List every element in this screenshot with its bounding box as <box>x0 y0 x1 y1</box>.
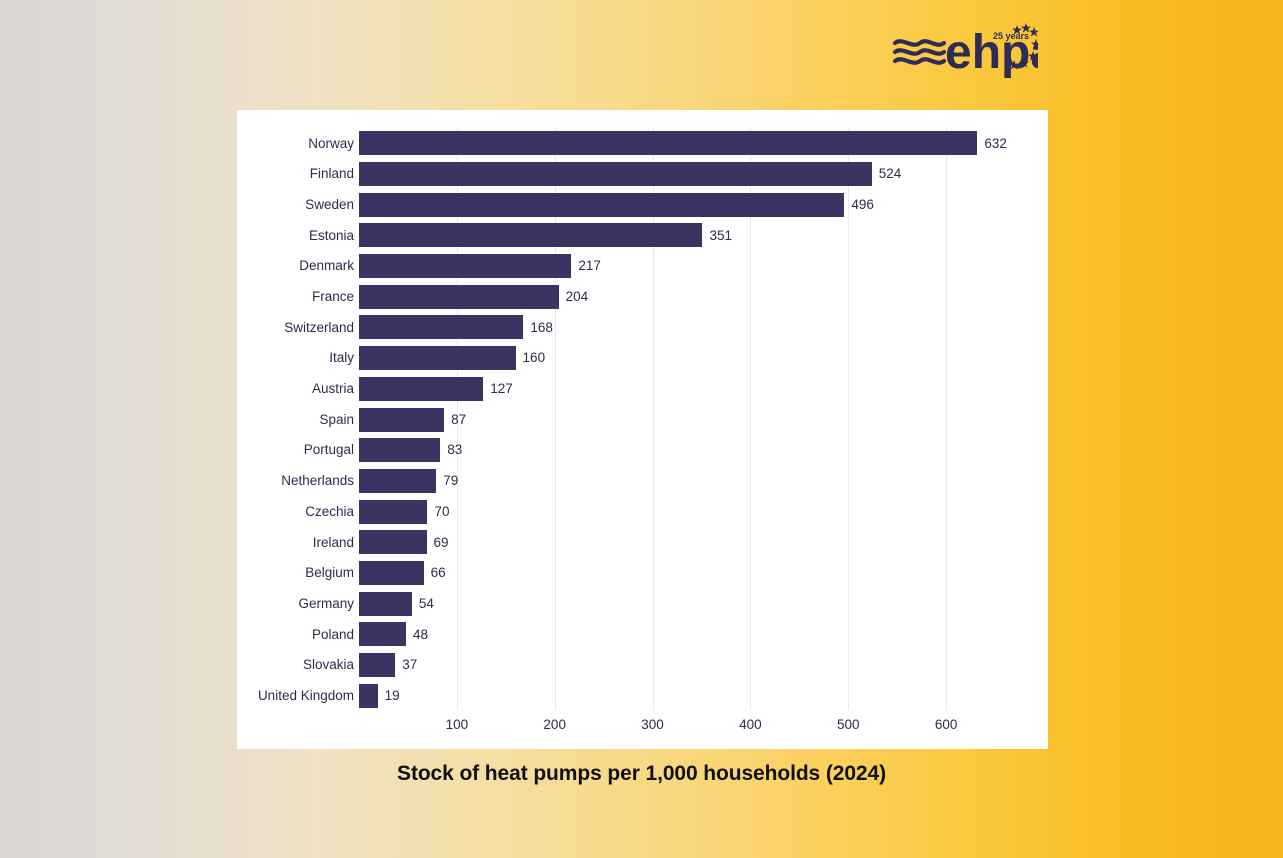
bar[interactable] <box>359 193 844 217</box>
bar-rows: Norway632Finland524Sweden496Estonia351De… <box>237 128 1048 711</box>
bar[interactable] <box>359 561 424 585</box>
category-label: United Kingdom <box>104 689 354 703</box>
bar-row: Denmark217 <box>237 251 1048 282</box>
bar-value-label: 66 <box>431 566 446 580</box>
bar[interactable] <box>359 346 516 370</box>
bar-row: Germany54 <box>237 588 1048 619</box>
category-label: Austria <box>104 382 354 396</box>
bar-value-label: 204 <box>566 290 589 304</box>
bar-row: United Kingdom19 <box>237 680 1048 711</box>
bar-row: Poland48 <box>237 619 1048 650</box>
category-label: Finland <box>104 167 354 181</box>
chart-panel: Norway632Finland524Sweden496Estonia351De… <box>237 110 1048 749</box>
bar-row: Belgium66 <box>237 558 1048 589</box>
category-label: Germany <box>104 597 354 611</box>
bar-container: 79 <box>359 466 458 497</box>
category-label: Portugal <box>104 443 354 457</box>
bar-container: 66 <box>359 558 446 589</box>
bar-container: 217 <box>359 251 601 282</box>
category-label: Spain <box>104 413 354 427</box>
category-label: Poland <box>104 628 354 642</box>
chart-caption: Stock of heat pumps per 1,000 households… <box>0 762 1283 786</box>
bar-value-label: 19 <box>385 689 400 703</box>
bar-value-label: 351 <box>709 229 732 243</box>
category-label: Sweden <box>104 198 354 212</box>
bar-container: 87 <box>359 404 466 435</box>
x-tick-label: 500 <box>837 718 860 732</box>
category-label: Norway <box>104 137 354 151</box>
bar[interactable] <box>359 285 559 309</box>
bar-value-label: 524 <box>879 167 902 181</box>
bar-row: Italy160 <box>237 343 1048 374</box>
category-label: Estonia <box>104 229 354 243</box>
bar[interactable] <box>359 254 571 278</box>
bar-value-label: 54 <box>419 597 434 611</box>
bar-value-label: 160 <box>523 351 546 365</box>
bar-container: 632 <box>359 128 1007 159</box>
bar-row: Portugal83 <box>237 435 1048 466</box>
category-label: Ireland <box>104 536 354 550</box>
anniversary-text: 25 years <box>993 31 1029 41</box>
bar[interactable] <box>359 223 702 247</box>
bar-value-label: 217 <box>578 259 601 273</box>
bar-container: 69 <box>359 527 449 558</box>
category-label: France <box>104 290 354 304</box>
ehpa-logo: ehpa 25 years <box>893 16 1038 78</box>
bar-container: 127 <box>359 374 513 405</box>
bar-row: Czechia70 <box>237 496 1048 527</box>
bar-container: 19 <box>359 680 400 711</box>
bar-row: Netherlands79 <box>237 466 1048 497</box>
bar-value-label: 127 <box>490 382 513 396</box>
x-tick-label: 200 <box>543 718 566 732</box>
category-label: Switzerland <box>104 321 354 335</box>
bar[interactable] <box>359 622 406 646</box>
bar-value-label: 168 <box>530 321 553 335</box>
bar-container: 54 <box>359 588 434 619</box>
bar-value-label: 70 <box>434 505 449 519</box>
bar-row: Sweden496 <box>237 189 1048 220</box>
bar-row: Switzerland168 <box>237 312 1048 343</box>
bar-row: Ireland69 <box>237 527 1048 558</box>
wave-icon <box>895 41 944 62</box>
bar[interactable] <box>359 377 483 401</box>
category-label: Italy <box>104 351 354 365</box>
bar-container: 351 <box>359 220 732 251</box>
bar-container: 524 <box>359 159 901 190</box>
category-label: Netherlands <box>104 474 354 488</box>
category-label: Slovakia <box>104 658 354 672</box>
category-label: Denmark <box>104 259 354 273</box>
bar-row: Estonia351 <box>237 220 1048 251</box>
category-label: Czechia <box>104 505 354 519</box>
bar[interactable] <box>359 315 523 339</box>
plot-area: Norway632Finland524Sweden496Estonia351De… <box>237 110 1048 749</box>
bar-row: Norway632 <box>237 128 1048 159</box>
bar[interactable] <box>359 438 440 462</box>
bar[interactable] <box>359 530 427 554</box>
bar[interactable] <box>359 408 444 432</box>
bar[interactable] <box>359 653 395 677</box>
bar-value-label: 632 <box>984 137 1007 151</box>
bar[interactable] <box>359 131 977 155</box>
bar-container: 204 <box>359 281 588 312</box>
bar[interactable] <box>359 592 412 616</box>
bar[interactable] <box>359 684 378 708</box>
x-tick-label: 300 <box>641 718 664 732</box>
bar-row: Slovakia37 <box>237 650 1048 681</box>
x-tick-label: 400 <box>739 718 762 732</box>
bar-row: Austria127 <box>237 374 1048 405</box>
bar-value-label: 48 <box>413 628 428 642</box>
bar[interactable] <box>359 162 872 186</box>
page-root: ehpa 25 years Norway632Finland524Sweden4… <box>0 0 1283 858</box>
bar[interactable] <box>359 469 436 493</box>
bar-row: Finland524 <box>237 159 1048 190</box>
bar-row: Spain87 <box>237 404 1048 435</box>
x-axis: 100200300400500600 <box>237 714 1048 744</box>
bar-value-label: 37 <box>402 658 417 672</box>
category-label: Belgium <box>104 566 354 580</box>
bar-container: 70 <box>359 496 450 527</box>
bar-value-label: 69 <box>434 536 449 550</box>
bar-container: 496 <box>359 189 874 220</box>
x-tick-label: 100 <box>446 718 469 732</box>
bar-container: 37 <box>359 650 417 681</box>
bar-container: 168 <box>359 312 553 343</box>
bar[interactable] <box>359 500 427 524</box>
bar-row: France204 <box>237 281 1048 312</box>
bar-value-label: 83 <box>447 443 462 457</box>
bar-container: 83 <box>359 435 462 466</box>
x-tick-label: 600 <box>935 718 958 732</box>
bar-value-label: 79 <box>443 474 458 488</box>
bar-container: 48 <box>359 619 428 650</box>
bar-container: 160 <box>359 343 545 374</box>
bar-value-label: 496 <box>851 198 874 212</box>
bar-value-label: 87 <box>451 413 466 427</box>
